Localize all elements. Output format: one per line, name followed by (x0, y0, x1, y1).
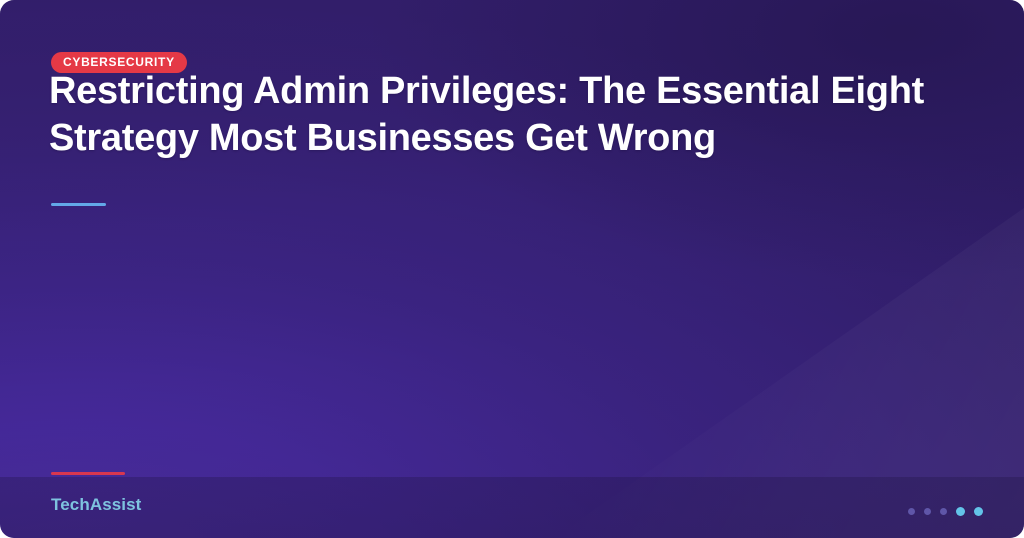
hero-content: CYBERSECURITY Restricting Admin Privileg… (0, 0, 1024, 538)
pagination-dot-3[interactable] (940, 508, 947, 515)
brand-logo[interactable]: TechAssist (51, 496, 141, 513)
blue-accent-rule (51, 203, 106, 206)
pagination-dot-2[interactable] (924, 508, 931, 515)
pagination-dot-4[interactable] (956, 507, 965, 516)
pagination-dot-1[interactable] (908, 508, 915, 515)
hero-card: CYBERSECURITY Restricting Admin Privileg… (0, 0, 1024, 538)
red-accent-rule (51, 472, 125, 475)
pagination-dot-5[interactable] (974, 507, 983, 516)
page-title: Restricting Admin Privileges: The Essent… (49, 68, 929, 162)
pagination-dots[interactable] (908, 504, 983, 518)
